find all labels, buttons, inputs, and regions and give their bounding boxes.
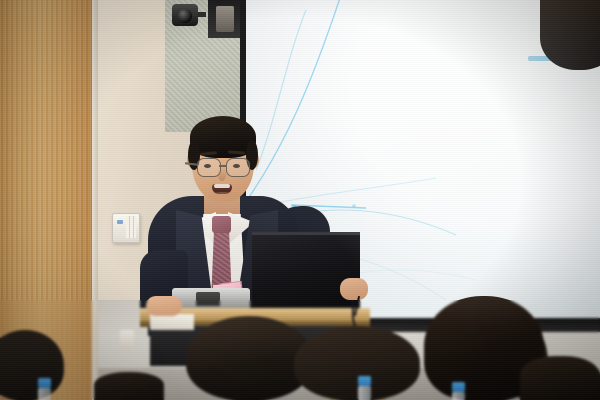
audience-head-center-left: [186, 316, 312, 400]
laptop[interactable]: [252, 232, 360, 314]
lecture-photo-scene: 共创 2023 选择医学可能是偶然 苏州大学苏州医: [0, 0, 600, 400]
speaker-nose: [218, 169, 226, 181]
speaker-hand-right: [340, 278, 368, 300]
wood-panel-edge: [92, 0, 98, 400]
speaker-teeth: [214, 184, 230, 188]
audience-head-center: [294, 326, 420, 400]
water-bottle-cap: [452, 382, 465, 392]
water-bottle-body: [452, 392, 465, 400]
water-bottle-body: [358, 386, 371, 400]
switch-indicator-icon: [117, 220, 123, 224]
audience-head-left-rear: [94, 372, 164, 400]
speaker-chin-shadow: [206, 192, 240, 204]
speaker-tie-knot: [212, 216, 231, 233]
water-bottle-body: [38, 388, 51, 400]
water-bottle-cap: [358, 376, 371, 386]
power-outlet: [120, 330, 134, 348]
white-paper-sheet: [150, 314, 194, 330]
speaker-hand-left: [146, 296, 182, 316]
camera-lens-icon: [178, 9, 192, 23]
audience-head-bottom-right: [520, 356, 600, 400]
laptop-lid-edge: [252, 232, 360, 235]
switch-rockers[interactable]: [126, 216, 136, 238]
audience-head-top-right: [540, 0, 600, 70]
water-bottle-cap: [38, 378, 51, 388]
eyeglasses-bridge: [219, 165, 226, 167]
projector-body: [216, 6, 234, 32]
eyeglasses-lens-right-icon: [226, 158, 250, 177]
